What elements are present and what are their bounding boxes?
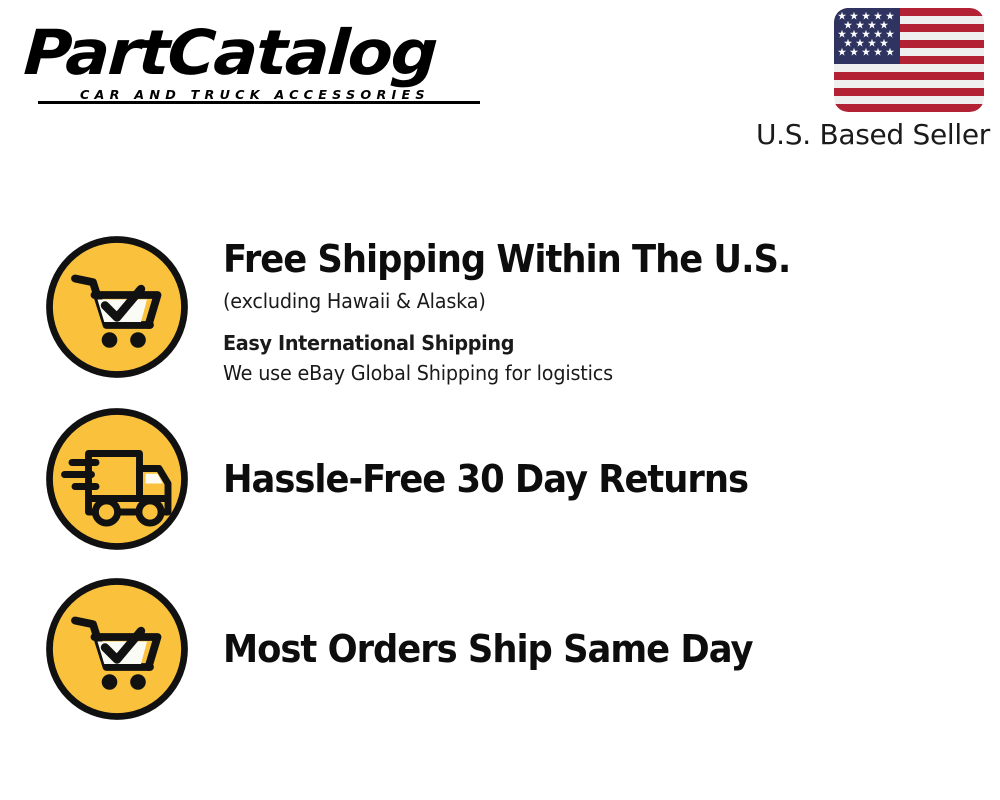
feature-title: Free Shipping Within The U.S. — [223, 236, 946, 282]
brand-logo-underline — [38, 101, 480, 104]
feature-subheading: Easy International Shipping — [223, 328, 969, 358]
feature-text-same-day: Most Orders Ship Same Day — [223, 574, 1000, 672]
brand-logo: PartCatalog CAR AND TRUCK ACCESSORIES — [24, 20, 494, 102]
page-header: PartCatalog CAR AND TRUCK ACCESSORIES — [0, 0, 1000, 170]
feature-title: Most Orders Ship Same Day — [223, 626, 946, 672]
feature-title: Hassle-Free 30 Day Returns — [223, 456, 946, 502]
shopping-cart-check-icon — [42, 574, 192, 724]
delivery-truck-icon — [42, 404, 192, 554]
feature-text-free-shipping: Free Shipping Within The U.S. (excluding… — [223, 232, 1000, 388]
brand-tagline: CAR AND TRUCK ACCESSORIES — [80, 87, 502, 102]
us-based-seller-badge: U.S. Based Seller — [722, 8, 992, 151]
feature-row-free-shipping: Free Shipping Within The U.S. (excluding… — [0, 232, 1000, 404]
feature-row-returns: Hassle-Free 30 Day Returns — [0, 404, 1000, 574]
us-flag-icon — [834, 8, 984, 112]
shopping-cart-check-icon — [42, 232, 192, 382]
feature-row-same-day: Most Orders Ship Same Day — [0, 574, 1000, 734]
feature-subdetail: We use eBay Global Shipping for logistic… — [223, 358, 969, 388]
feature-list: Free Shipping Within The U.S. (excluding… — [0, 232, 1000, 734]
brand-wordmark: PartCatalog — [22, 20, 524, 86]
feature-text-returns: Hassle-Free 30 Day Returns — [223, 404, 1000, 502]
feature-subnote: (excluding Hawaii & Alaska) — [223, 286, 969, 316]
us-based-seller-label: U.S. Based Seller — [722, 118, 990, 151]
